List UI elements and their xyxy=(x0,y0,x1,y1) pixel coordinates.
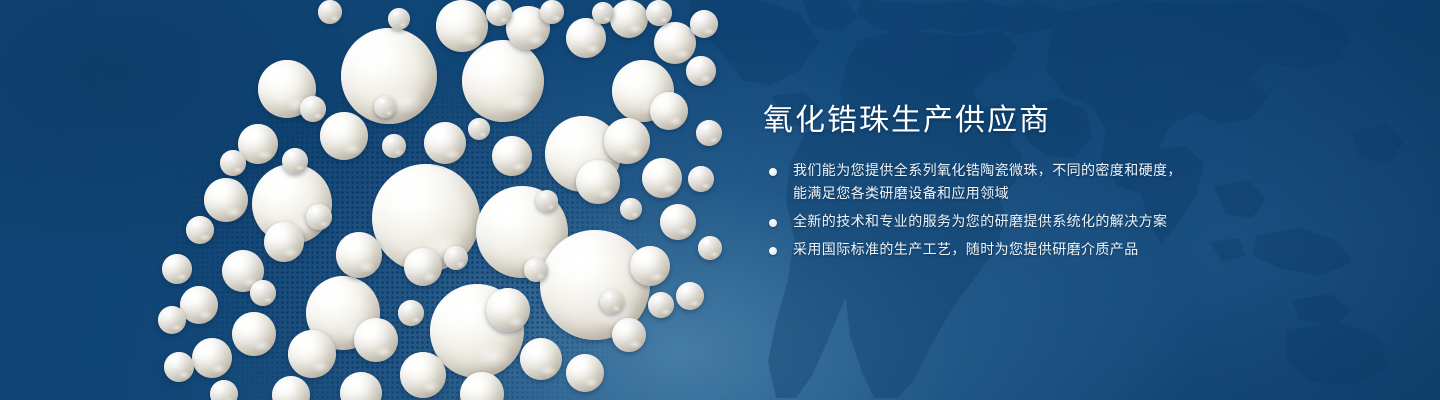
list-item: 采用国际标准的生产工艺，随时为您提供研磨介质产品 xyxy=(763,239,1283,262)
hero-banner: 氧化锆珠生产供应商 我们能为您提供全系列氧化锆陶瓷微珠，不同的密度和硬度， 能满… xyxy=(0,0,1440,400)
list-item-line: 能满足您各类研磨设备和应用领域 xyxy=(793,183,1283,206)
list-item: 全新的技术和专业的服务为您的研磨提供系统化的解决方案 xyxy=(763,211,1283,234)
bullet-dot-icon xyxy=(769,247,777,255)
list-item-line: 采用国际标准的生产工艺，随时为您提供研磨介质产品 xyxy=(793,239,1283,262)
page-title: 氧化锆珠生产供应商 xyxy=(763,104,1283,138)
banner-copy: 氧化锆珠生产供应商 我们能为您提供全系列氧化锆陶瓷微珠，不同的密度和硬度， 能满… xyxy=(763,104,1283,267)
bullet-dot-icon xyxy=(769,219,777,227)
bullet-dot-icon xyxy=(769,168,777,176)
feature-list: 我们能为您提供全系列氧化锆陶瓷微珠，不同的密度和硬度， 能满足您各类研磨设备和应… xyxy=(763,160,1283,262)
list-item-line: 我们能为您提供全系列氧化锆陶瓷微珠，不同的密度和硬度， xyxy=(793,160,1283,183)
list-item: 我们能为您提供全系列氧化锆陶瓷微珠，不同的密度和硬度， 能满足您各类研磨设备和应… xyxy=(763,160,1283,206)
zirconia-beads-cluster-image xyxy=(0,0,760,400)
list-item-line: 全新的技术和专业的服务为您的研磨提供系统化的解决方案 xyxy=(793,211,1283,234)
